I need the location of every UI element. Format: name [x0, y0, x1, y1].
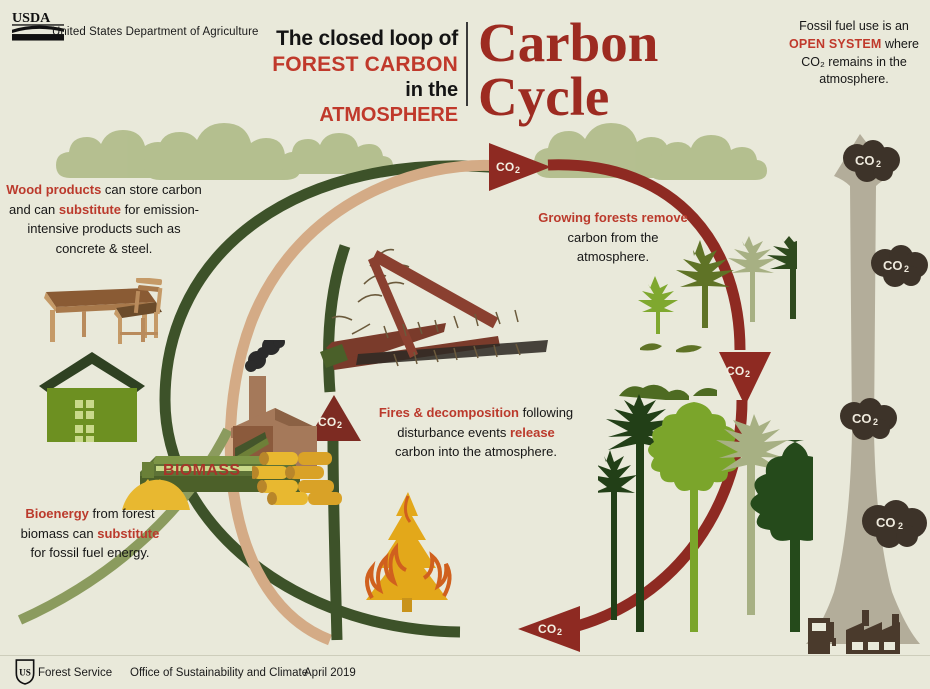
- co2-subscript: 2: [557, 627, 562, 637]
- co2-label: CO: [852, 411, 872, 426]
- title-line-3-emphasis: ATMOSPHERE: [319, 104, 458, 126]
- wood-products-blurb: Wood products can store carbon and can s…: [6, 180, 202, 258]
- mature-forest-icon: [598, 392, 813, 632]
- growing-forests-blurb: Growing forests remove carbon from the a…: [538, 208, 688, 267]
- factory-icon: [806, 608, 924, 656]
- title-main-line-2: Cycle: [478, 70, 658, 124]
- bio-blurb-em-1: Bioenergy: [25, 506, 89, 521]
- wood-chair-icon: [108, 278, 170, 350]
- footer-divider: [0, 655, 930, 656]
- title-line-1: The closed loop of: [268, 26, 458, 52]
- bio-blurb-text-2: for fossil fuel energy.: [31, 545, 150, 560]
- co2-cloud-bottom: CO 2: [860, 500, 930, 548]
- co2-label: CO: [496, 160, 514, 174]
- fossil-note-pre: Fossil fuel use is an: [799, 19, 909, 33]
- footer-service-name: Forest Service: [38, 667, 112, 679]
- fire-blurb-em-1: Fires & decomposition: [379, 405, 519, 420]
- svg-text:US: US: [19, 667, 31, 677]
- co2-arrow-up-right: CO 2: [489, 143, 551, 191]
- fossil-fuel-note: Fossil fuel use is an OPEN SYSTEM where …: [783, 18, 925, 89]
- co2-label: CO: [855, 153, 875, 168]
- title-line-2: FOREST CARBON: [268, 52, 458, 78]
- bio-blurb-em-2: substitute: [97, 526, 159, 541]
- co2-subscript: 2: [898, 521, 903, 531]
- co2-arrow-left-bottom: CO 2: [518, 606, 580, 652]
- page-title-main: Carbon Cycle: [478, 16, 658, 124]
- title-line-3: in the ATMOSPHERE: [268, 78, 458, 128]
- fire-blurb-text-2: carbon into the atmosphere.: [395, 444, 557, 459]
- co2-subscript: 2: [904, 264, 909, 274]
- grow-blurb-em-2: remove: [642, 210, 688, 225]
- co2-cloud-top: CO 2: [841, 140, 903, 182]
- title-main-line-1: Carbon: [478, 16, 658, 70]
- co2-subscript: 2: [515, 165, 520, 175]
- smoke-plume-icon: [800, 132, 930, 652]
- title-line-3-pre: in the: [405, 79, 458, 101]
- forest-service-shield-icon: US: [14, 659, 36, 685]
- wood-blurb-em-2: substitute: [59, 202, 121, 217]
- co2-subscript: 2: [873, 417, 878, 427]
- co2-subscript: 2: [337, 420, 342, 430]
- footer-office-name: Office of Sustainability and Climate: [130, 667, 308, 679]
- agency-name: United States Department of Agriculture: [52, 26, 259, 38]
- fires-decomposition-blurb: Fires & decomposition following disturba…: [378, 403, 574, 462]
- wood-house-icon: [37, 352, 147, 442]
- title-divider: [466, 22, 468, 106]
- burning-tree-icon: [352, 490, 464, 618]
- co2-label: CO: [538, 622, 556, 636]
- co2-label: CO: [883, 258, 903, 273]
- co2-subscript: 2: [876, 159, 881, 169]
- wood-blurb-em-1: Wood products: [6, 182, 101, 197]
- grow-blurb-em-1: Growing forests: [538, 210, 638, 225]
- page-title-left: The closed loop of FOREST CARBON in the …: [268, 26, 458, 128]
- bioenergy-blurb: Bioenergy from forest biomass can substi…: [14, 504, 166, 563]
- footer-date: April 2019: [304, 667, 356, 679]
- fire-blurb-em-2: release: [510, 425, 555, 440]
- fallen-deadwood-icon: [318, 228, 553, 370]
- fossil-note-emphasis: OPEN SYSTEM: [789, 37, 882, 51]
- svg-text:USDA: USDA: [12, 10, 51, 26]
- co2-cloud-upper-mid: CO 2: [869, 245, 930, 287]
- log-pile-icon: [252, 450, 347, 505]
- grow-blurb-text: carbon from the atmosphere.: [567, 230, 658, 265]
- infographic-canvas: CO 2 CO 2 CO 2 CO 2: [0, 0, 930, 689]
- co2-label: CO: [876, 515, 896, 530]
- co2-cloud-lower-mid: CO 2: [838, 398, 900, 440]
